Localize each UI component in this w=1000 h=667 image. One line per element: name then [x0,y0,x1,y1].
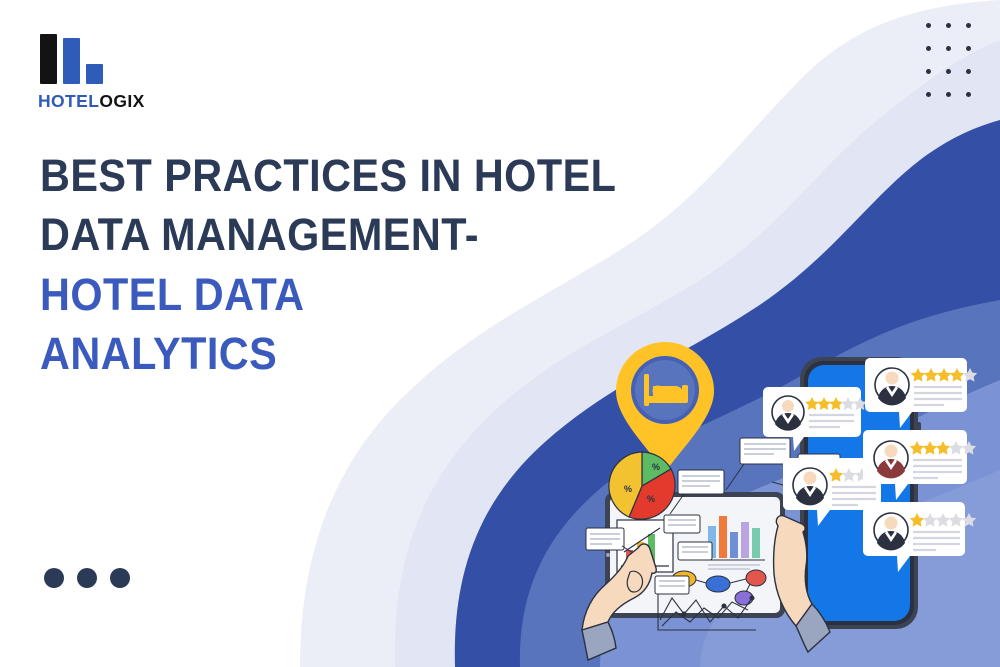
title-line-3: HOTEL DATA [40,265,592,324]
three-dots [44,568,130,588]
title-line-4: ANALYTICS [40,324,592,383]
grid-dot [966,69,971,74]
logo-bar-1 [40,34,57,84]
grid-dot [926,23,931,28]
grid-dot [966,23,971,28]
grid-dot [926,92,931,97]
bar-chart-logo-icon [38,34,178,84]
grid-dot [946,46,951,51]
page-title: BEST PRACTICES IN HOTEL DATA MANAGEMENT-… [40,146,592,384]
banner-canvas: HOTELOGIX BEST PRACTICES IN HOTEL DATA M… [0,0,1000,667]
brand-logo[interactable]: HOTELOGIX [38,34,178,112]
grid-dot [926,69,931,74]
callout-box [678,542,712,560]
logo-bar-2 [63,38,80,84]
grid-dot [966,46,971,51]
grid-dot [966,92,971,97]
callout-box [655,576,689,594]
dot-grid [918,14,978,106]
accent-dot [77,568,97,588]
brand-name-part2: OGIX [99,91,144,111]
callout-box [726,438,790,490]
title-line-2: DATA MANAGEMENT- [40,205,592,264]
grid-dot [946,92,951,97]
logo-bar-3 [86,64,103,84]
svg-text:%: % [647,494,655,504]
hotel-data-analytics-illustration: % % % [560,330,1000,667]
brand-name: HOTELOGIX [38,91,178,112]
accent-dot [44,568,64,588]
accent-dot [110,568,130,588]
pie-chart: % % % [609,452,675,519]
brand-name-part1: HOTEL [38,91,99,111]
callout-box [664,515,700,533]
hotel-location-pin-icon [616,342,714,472]
grid-dot [946,69,951,74]
grid-dot [926,46,931,51]
svg-text:%: % [652,462,660,472]
svg-text:%: % [624,484,632,494]
title-line-1: BEST PRACTICES IN HOTEL [40,146,592,205]
grid-dot [946,23,951,28]
